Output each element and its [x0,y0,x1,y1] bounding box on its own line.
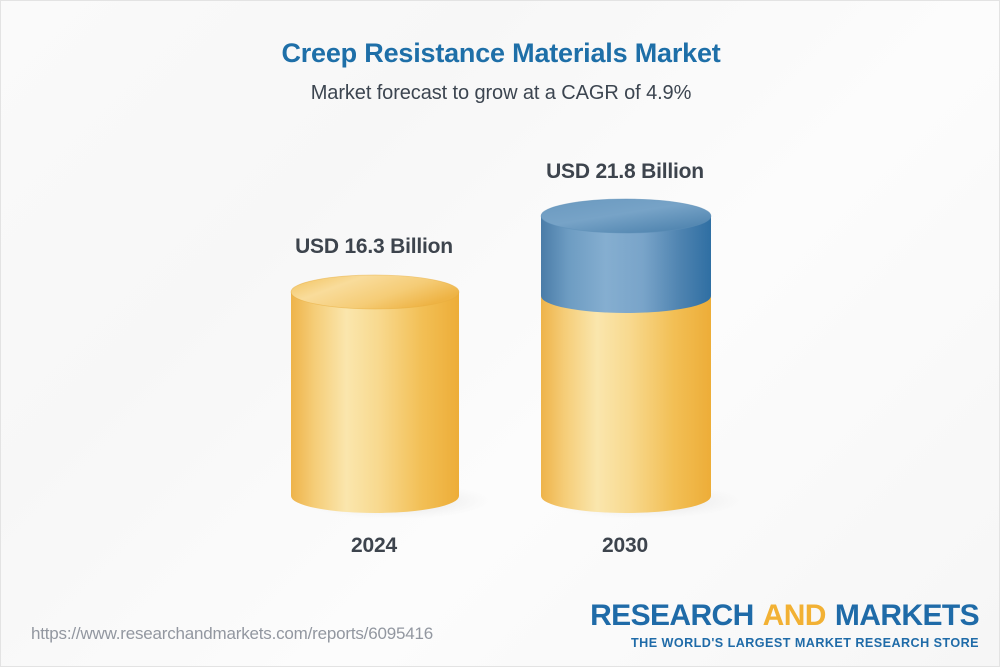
brand-logo: RESEARCHANDMARKETS THE WORLD'S LARGEST M… [590,601,979,650]
chart-plot-area: USD 16.3 Billion [1,1,1000,601]
category-label-2030: 2030 [465,534,785,558]
cylinder-bar-2030 [539,197,713,523]
logo-tagline: THE WORLD'S LARGEST MARKET RESEARCH STOR… [590,636,979,650]
chart-card: Creep Resistance Materials Market Market… [0,0,1000,667]
source-url[interactable]: https://www.researchandmarkets.com/repor… [31,624,433,644]
data-label-2030: USD 21.8 Billion [465,160,785,184]
logo-word-and: AND [763,599,826,632]
logo-word-research: RESEARCH [590,599,754,632]
cylinder-bar-2024 [290,275,462,523]
logo-word-markets: MARKETS [835,599,979,632]
data-label-2024: USD 16.3 Billion [214,235,534,259]
logo-wordmark: RESEARCHANDMARKETS [590,601,979,631]
